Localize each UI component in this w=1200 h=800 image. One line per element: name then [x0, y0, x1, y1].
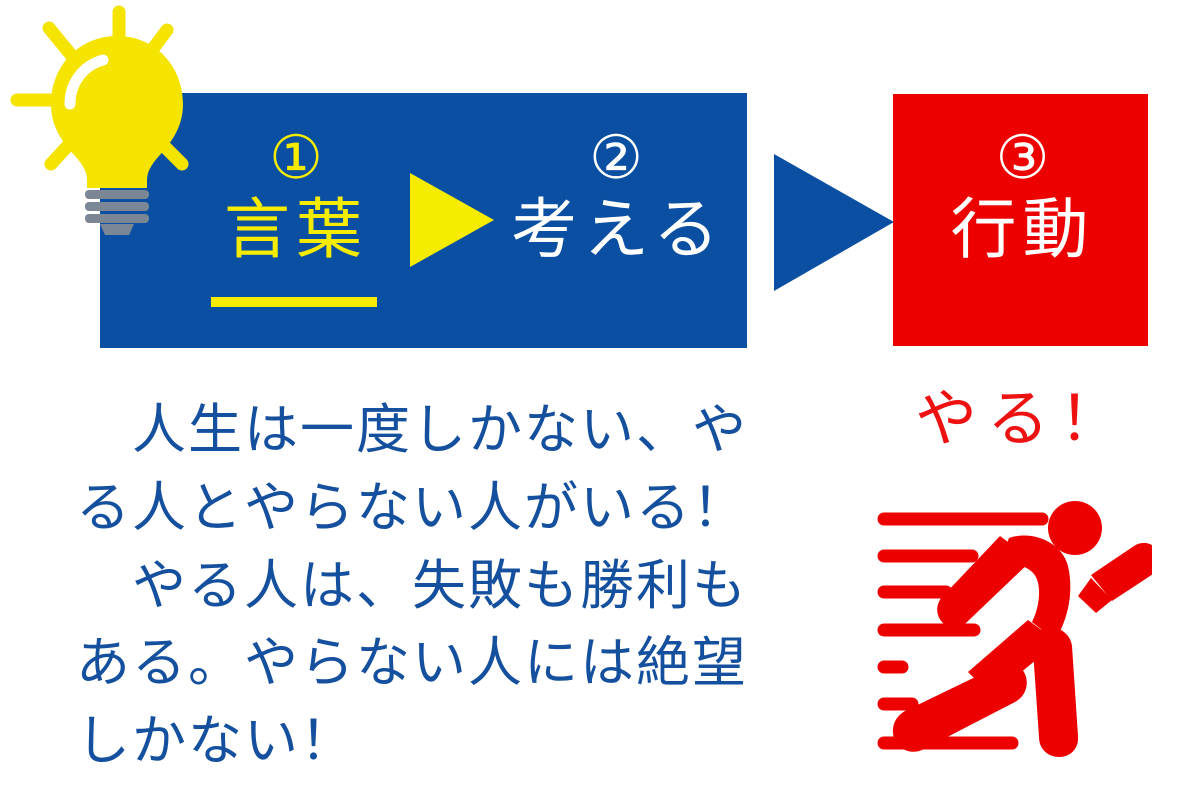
lightbulb-glass [51, 36, 183, 188]
lightbulb-base [85, 190, 149, 235]
step-3-word: 行動 [925, 194, 1120, 268]
step-3-number: ③ [925, 128, 1120, 188]
lightbulb-icon [4, 4, 219, 236]
runner-head [1048, 501, 1102, 555]
step-1-underline [211, 297, 377, 307]
quote-line-2: る人とやらない人がいる！ [76, 470, 766, 548]
quote-line-4: ある。やらない人には絶望 [76, 625, 766, 703]
arrow-step1-to-step2-icon [408, 171, 496, 269]
step-1-number: ① [196, 128, 396, 188]
step-1-label: ① 言葉 [196, 128, 396, 268]
step-2-number: ② [511, 128, 721, 188]
quote-line-1: 人生は一度しかない、や [76, 392, 766, 470]
step-2-word: 考える [511, 194, 721, 268]
step-3-label: ③ 行動 [925, 128, 1120, 268]
quote-line-5: しかない！ [76, 703, 766, 781]
quote-block: 人生は一度しかない、や る人とやらない人がいる！ やる人は、失敗も勝利も ある。… [76, 392, 766, 781]
step-1-word: 言葉 [196, 194, 396, 268]
running-person-icon [872, 500, 1152, 758]
poster-canvas: ① 言葉 ② 考える ③ 行動 [0, 0, 1200, 800]
step-2-label: ② 考える [511, 128, 721, 268]
callout-text: やる！ [908, 386, 1138, 454]
quote-line-3: やる人は、失敗も勝利も [76, 548, 766, 626]
arrow-step2-to-step3-icon [772, 152, 896, 293]
